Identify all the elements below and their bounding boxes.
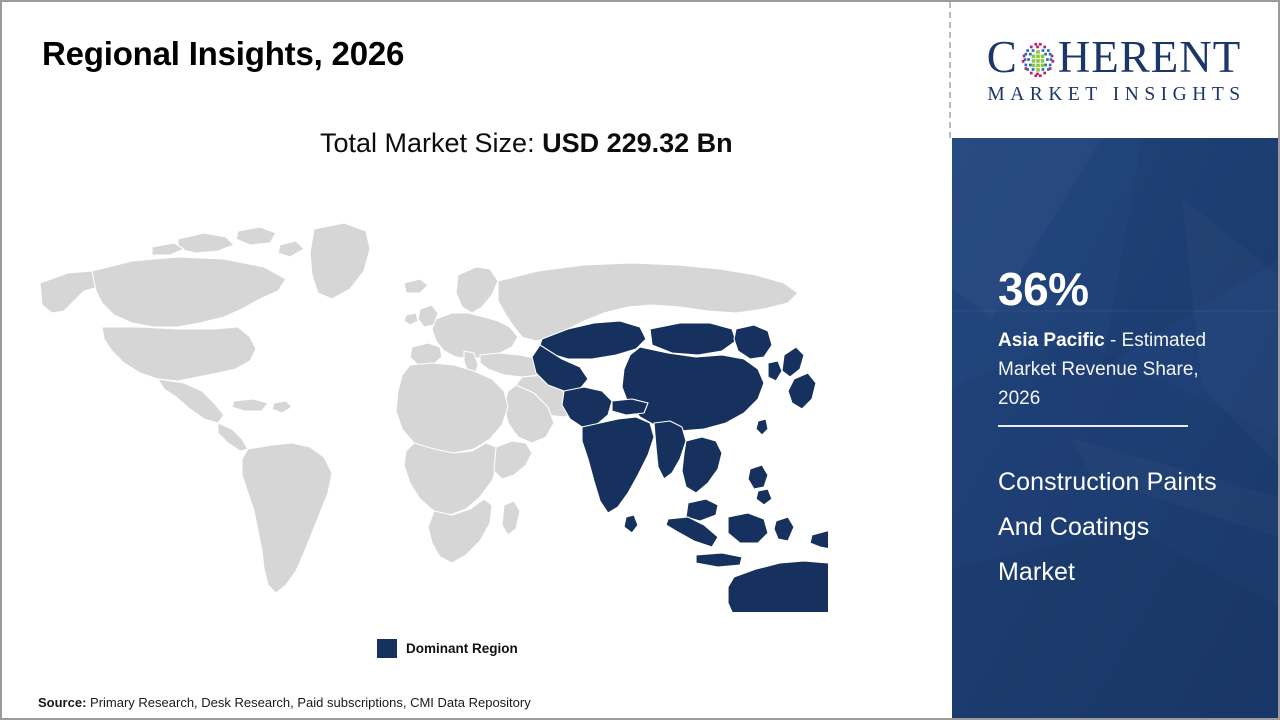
regional-stat-panel: 36% Asia Pacific - Estimated Market Reve…: [952, 138, 1280, 720]
total-market-size-value: USD 229.32 Bn: [542, 128, 733, 158]
legend-label-dominant-region: Dominant Region: [406, 641, 518, 656]
map-highlight-asia-pacific: [532, 321, 828, 612]
logo-wordmark: C: [987, 35, 1242, 80]
map-legend: Dominant Region: [377, 639, 518, 658]
stat-percentage: 36%: [998, 266, 1089, 312]
vertical-dashed-divider: [949, 2, 951, 138]
coherent-market-insights-logo: C: [964, 24, 1264, 116]
source-text: Primary Research, Desk Research, Paid su…: [86, 695, 530, 710]
page-title: Regional Insights, 2026: [42, 35, 404, 73]
logo-letter-c: C: [987, 35, 1018, 80]
panel-content: 36% Asia Pacific - Estimated Market Reve…: [998, 138, 1266, 720]
total-market-size-label: Total Market Size:: [320, 128, 542, 158]
legend-swatch-dominant-region: [377, 639, 397, 658]
source-label: Source:: [38, 695, 86, 710]
market-name: Construction Paints And Coatings Market: [998, 460, 1233, 595]
globe-dots-icon: [1020, 41, 1056, 77]
world-map: [28, 187, 828, 612]
stat-region-name: Asia Pacific: [998, 330, 1105, 351]
logo-letters-herent: HERENT: [1058, 35, 1241, 80]
panel-divider-rule: [998, 425, 1188, 427]
infographic-canvas: Regional Insights, 2026 Total Market Siz…: [0, 0, 1280, 720]
stat-description: Asia Pacific - Estimated Market Revenue …: [998, 326, 1238, 413]
total-market-size: Total Market Size: USD 229.32 Bn: [320, 128, 733, 159]
source-note: Source: Primary Research, Desk Research,…: [38, 695, 531, 710]
logo-subtitle: MARKET INSIGHTS: [982, 84, 1245, 106]
